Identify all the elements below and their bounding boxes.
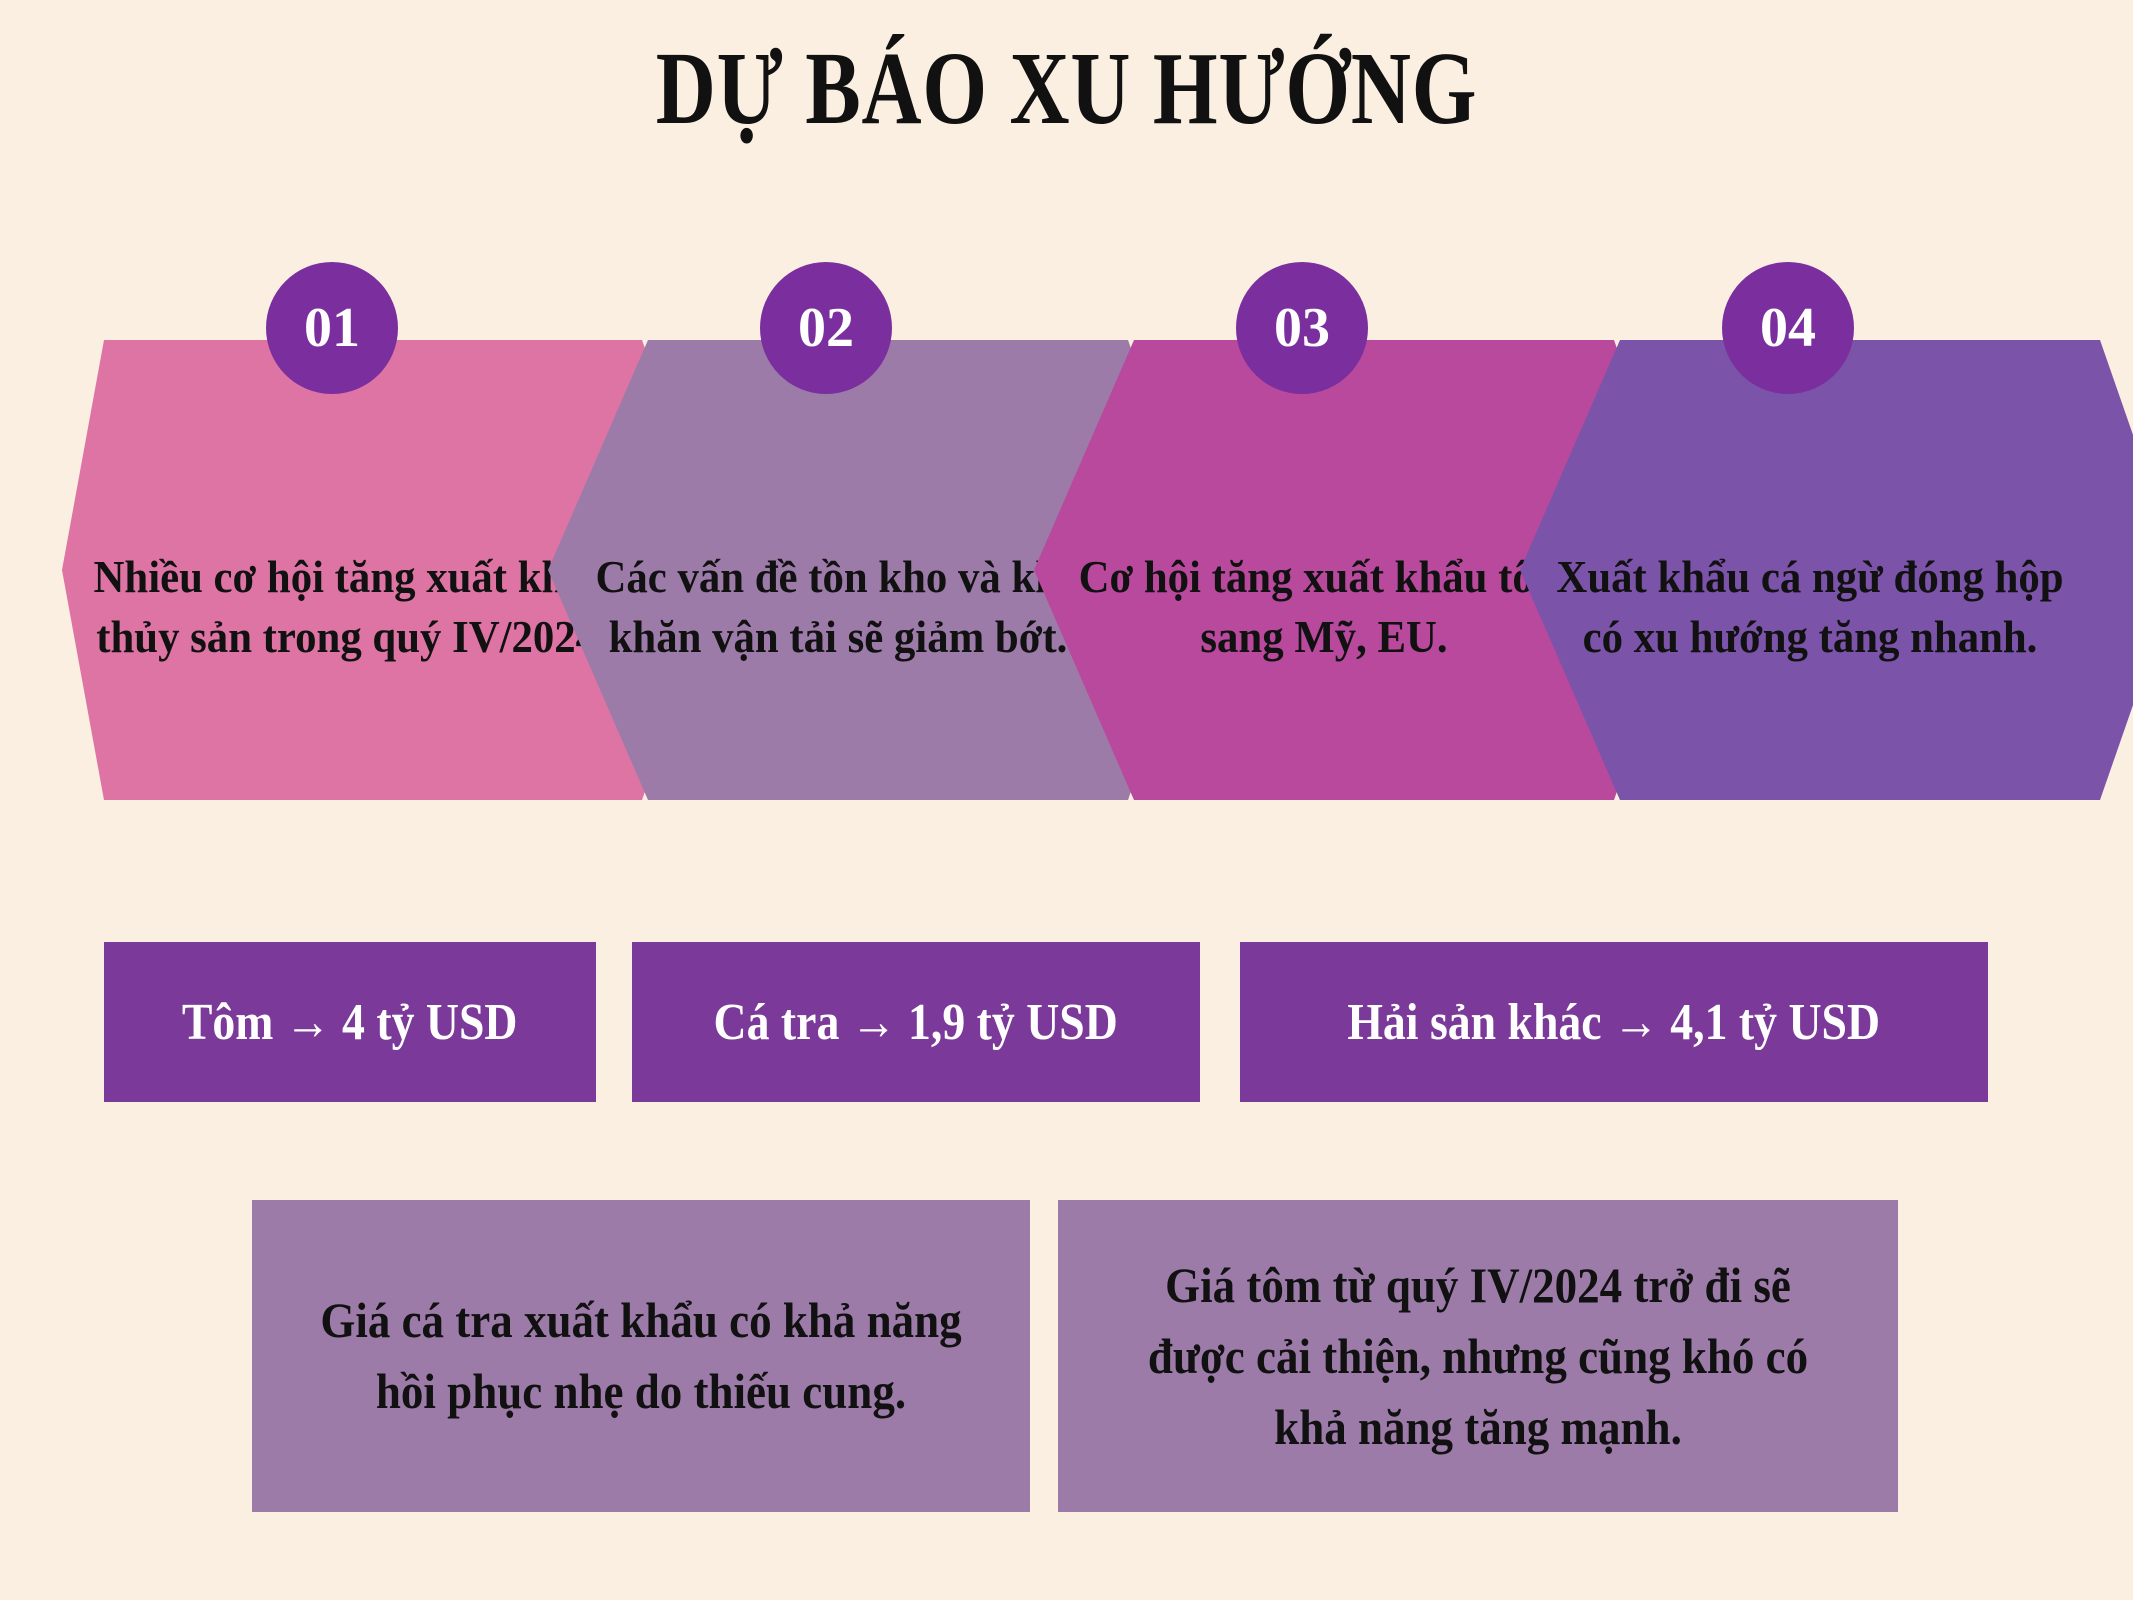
stat-bars: Tôm → 4 tỷ USD Cá tra → 1,9 tỷ USD Hải s… [0,942,2133,1102]
step-number-badge-3: 03 [1236,262,1368,394]
note-box-shrimp-price: Giá tôm từ quý IV/2024 trở đi sẽ được cả… [1058,1200,1898,1512]
step-number-badge-1: 01 [266,262,398,394]
page-title: DỰ BÁO XU HƯỚNG [213,34,1919,143]
step-number-badge-2: 02 [760,262,892,394]
process-step-4-arrow-tip [2100,340,2133,800]
stat-bar-shrimp: Tôm → 4 tỷ USD [104,942,596,1102]
process-step-2-text: Các vấn đề tồn kho và khó khăn vận tải s… [568,473,1107,667]
stat-bar-other-seafood: Hải sản khác → 4,1 tỷ USD [1240,942,1988,1102]
note-box-shrimp-price-text: Giá tôm từ quý IV/2024 trở đi sẽ được cả… [1120,1250,1836,1463]
stat-bar-pangasius-label: Cá tra → 1,9 tỷ USD [714,993,1118,1052]
step-number-badge-4: 04 [1722,262,1854,394]
process-step-1-text: Nhiều cơ hội tăng xuất khẩu thủy sản tro… [82,473,621,667]
note-box-pangasius-price-text: Giá cá tra xuất khẩu có khả năng hồi phụ… [311,1285,972,1427]
stat-bar-pangasius: Cá tra → 1,9 tỷ USD [632,942,1200,1102]
stat-bar-shrimp-label: Tôm → 4 tỷ USD [182,993,518,1052]
process-step-4: Xuất khẩu cá ngừ đóng hộp có xu hướng tă… [1520,340,2100,800]
stat-bar-other-seafood-label: Hải sản khác → 4,1 tỷ USD [1348,993,1881,1052]
process-step-3-text: Cơ hội tăng xuất khẩu tôm sang Mỹ, EU. [1054,473,1593,667]
note-box-pangasius-price: Giá cá tra xuất khẩu có khả năng hồi phụ… [252,1200,1030,1512]
process-step-4-text: Xuất khẩu cá ngừ đóng hộp có xu hướng tă… [1540,473,2079,667]
process-steps: Nhiều cơ hội tăng xuất khẩu thủy sản tro… [0,340,2133,800]
note-boxes: Giá cá tra xuất khẩu có khả năng hồi phụ… [0,1200,2133,1512]
